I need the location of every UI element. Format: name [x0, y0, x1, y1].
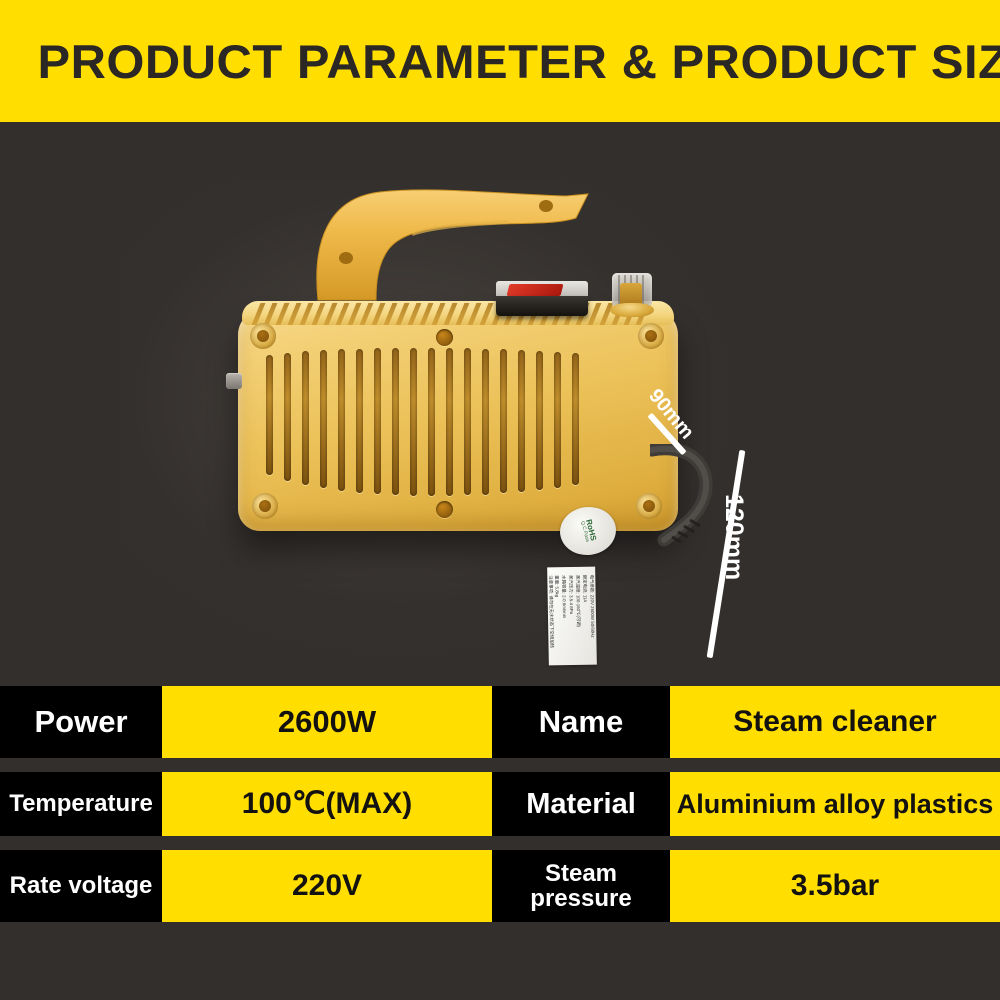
screw-boss-bottom-left: [252, 493, 278, 519]
header-banner: PRODUCT PARAMETER & PRODUCT SIZE: [0, 0, 1000, 122]
spec-key-steam-pressure: Steam pressure: [492, 850, 670, 922]
infographic-page: PRODUCT PARAMETER & PRODUCT SIZE: [0, 0, 1000, 1000]
spec-value-steam-pressure: 3.5bar: [670, 850, 1000, 922]
product-photo-area: RoHS Q.C Pass 手提式高压蒸汽清洗机 电气参数: 220V 2600…: [0, 122, 1000, 678]
screw-boss-top-left: [250, 323, 276, 349]
steam-control-knob[interactable]: [610, 273, 654, 325]
table-row: Power 2600W Name Steam cleaner: [0, 686, 1000, 758]
rohs-sticker-text: RoHS Q.C Pass: [579, 519, 598, 543]
spec-plate-line-3: 蒸汽压力: 3.5-4 8Pa: [568, 575, 574, 614]
spec-plate-line-4: 水箱容量: 2-0.6ml/min: [562, 575, 568, 618]
face-vent-grille: [260, 345, 660, 513]
spec-plate-line-0: 电气参数: 220V 2600W 50/60Hz: [589, 575, 595, 638]
spec-key-name: Name: [492, 686, 670, 758]
knob-collar: [610, 303, 654, 317]
spec-plate-line-2: 蒸汽温度: 100-160℃(可调): [575, 575, 581, 627]
spec-value-name: Steam cleaner: [670, 686, 1000, 758]
power-switch[interactable]: [496, 281, 588, 315]
spec-table: Power 2600W Name Steam cleaner Temperatu…: [0, 686, 1000, 936]
page-title: PRODUCT PARAMETER & PRODUCT SIZE: [0, 34, 1000, 89]
spec-value-power: 2600W: [162, 686, 492, 758]
screw-hole-top-center: [436, 329, 453, 346]
height-dimension-label: 120mm: [719, 494, 748, 580]
product-spec-plate: 手提式高压蒸汽清洗机 电气参数: 220V 2600W 50/60Hz 额定电流…: [547, 567, 597, 666]
spec-key-material: Material: [492, 772, 670, 836]
switch-base: [496, 296, 588, 316]
top-vent-grille: [252, 303, 652, 325]
spec-value-material: Aluminium alloy plastics: [670, 772, 1000, 836]
spec-plate-line-6: 注意事项: 请勿在无水状态下空烧加热: [548, 575, 554, 648]
spec-plate-line-1: 额定电流: 11A: [582, 575, 587, 603]
spec-plate-line-5: 重量: 5.8kg: [555, 575, 560, 597]
spec-value-temperature: 100℃(MAX): [162, 772, 492, 836]
steam-outlet-nozzle: [226, 373, 242, 389]
spec-key-rate-voltage: Rate voltage: [0, 850, 162, 922]
spec-key-power: Power: [0, 686, 162, 758]
spec-value-rate-voltage: 220V: [162, 850, 492, 922]
product-body: [238, 287, 684, 532]
screw-boss-top-right: [638, 323, 664, 349]
spec-plate-text: 手提式高压蒸汽清洗机 电气参数: 220V 2600W 50/60Hz 额定电流…: [547, 575, 597, 666]
switch-indicator-red: [507, 284, 564, 296]
table-row: Rate voltage 220V Steam pressure 3.5bar: [0, 850, 1000, 922]
spec-key-temperature: Temperature: [0, 772, 162, 836]
table-row: Temperature 100℃(MAX) Material Aluminium…: [0, 772, 1000, 836]
screw-hole-bottom-center: [436, 501, 453, 518]
